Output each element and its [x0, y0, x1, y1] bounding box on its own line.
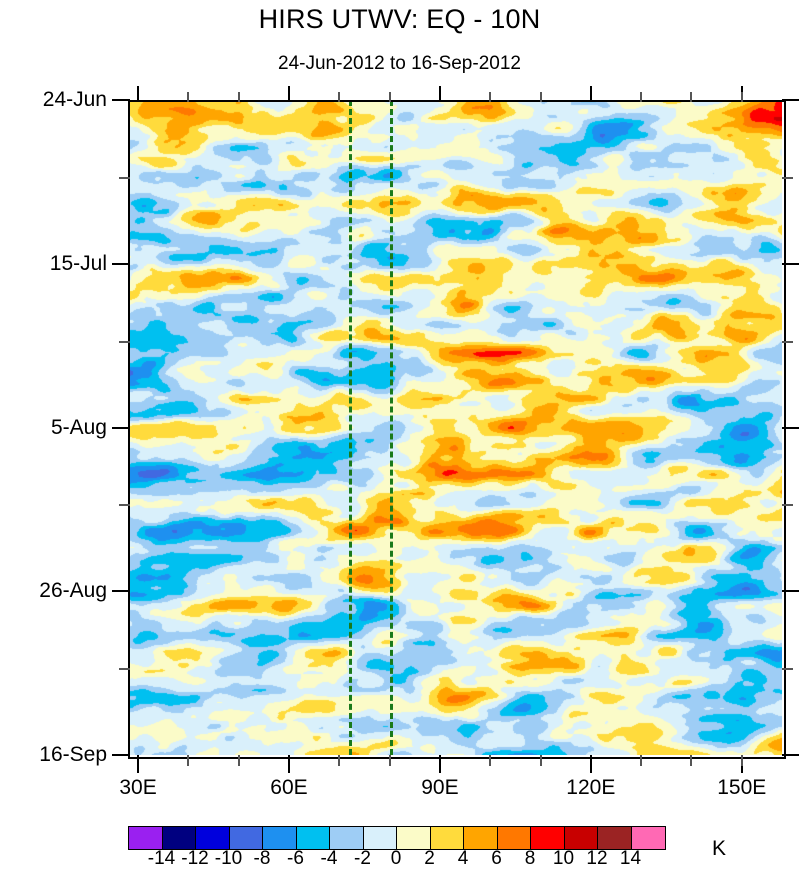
axis-tick — [782, 341, 793, 343]
axis-tick — [540, 755, 542, 766]
axis-tick — [439, 755, 441, 773]
hovmoller-plot-area — [128, 100, 782, 755]
page-title: HIRS UTWV: EQ - 10N — [0, 4, 799, 35]
axis-tick — [489, 755, 491, 766]
colorbar-swatch[interactable] — [431, 827, 465, 849]
axis-tick — [690, 755, 692, 766]
axis-tick — [782, 590, 799, 592]
colorbar[interactable] — [128, 826, 666, 850]
x-axis-tick-label: 150E — [692, 777, 792, 798]
axis-tick — [782, 177, 793, 179]
axis-tick — [640, 755, 642, 766]
figure-subtitle: 24-Jun-2012 to 16-Sep-2012 — [0, 53, 799, 75]
colorbar-swatch[interactable] — [129, 827, 163, 849]
axis-tick — [119, 504, 130, 506]
x-axis-tick-label: 60E — [239, 777, 339, 798]
colorbar-swatch[interactable] — [297, 827, 331, 849]
axis-tick — [119, 668, 130, 670]
axis-tick — [338, 92, 340, 102]
axis-tick — [137, 755, 139, 773]
axis-tick — [338, 755, 340, 766]
x-axis-tick-label: 120E — [541, 777, 641, 798]
axis-tick — [389, 755, 391, 766]
colorbar-swatch[interactable] — [464, 827, 498, 849]
axis-tick — [741, 755, 743, 766]
axis-tick — [690, 92, 692, 102]
axis-tick — [119, 341, 130, 343]
y-axis-tick-label: 5-Aug — [51, 417, 107, 438]
figure-root: HIRS UTWV: EQ - 10N 24-Jun-2012 to 16-Se… — [0, 0, 799, 869]
axis-tick — [590, 86, 592, 102]
colorbar-unit-label: K — [712, 838, 726, 859]
axis-tick — [288, 755, 290, 773]
axis-tick — [782, 427, 799, 429]
axis-tick — [288, 86, 290, 102]
colorbar-swatch[interactable] — [330, 827, 364, 849]
axis-tick — [640, 92, 642, 102]
y-axis-tick-label: 24-Jun — [43, 89, 107, 110]
axis-tick — [741, 92, 743, 102]
y-axis-tick-label: 16-Sep — [39, 744, 107, 765]
axis-tick — [112, 263, 130, 265]
x-axis-tick-label: 30E — [88, 777, 188, 798]
axis-tick — [112, 99, 130, 101]
axis-tick — [782, 263, 799, 265]
axis-tick — [782, 504, 793, 506]
axis-tick — [782, 99, 799, 101]
colorbar-swatch[interactable] — [397, 827, 431, 849]
colorbar-swatch[interactable] — [263, 827, 297, 849]
colorbar-swatch[interactable] — [163, 827, 197, 849]
colorbar-tick-label: 14 — [607, 849, 655, 868]
y-axis-tick-label: 15-Jul — [50, 253, 107, 274]
axis-tick — [389, 92, 391, 102]
axis-tick — [112, 427, 130, 429]
colorbar-swatch[interactable] — [565, 827, 599, 849]
axis-tick — [439, 86, 441, 102]
colorbar-swatch[interactable] — [531, 827, 565, 849]
colorbar-swatch[interactable] — [230, 827, 264, 849]
annotation-vline-72e — [349, 100, 352, 755]
y-axis-tick-label: 26-Aug — [39, 580, 107, 601]
colorbar-swatch[interactable] — [598, 827, 632, 849]
contour-field-canvas — [128, 100, 782, 755]
axis-tick — [137, 86, 139, 102]
axis-tick — [112, 590, 130, 592]
annotation-vline-80e — [390, 100, 393, 755]
axis-tick — [590, 755, 592, 773]
axis-tick — [238, 92, 240, 102]
axis-tick — [187, 755, 189, 766]
axis-tick — [782, 754, 799, 756]
axis-tick — [782, 668, 793, 670]
colorbar-swatch[interactable] — [196, 827, 230, 849]
colorbar-swatch[interactable] — [632, 827, 666, 849]
axis-tick — [238, 755, 240, 766]
colorbar-swatch[interactable] — [498, 827, 532, 849]
axis-tick — [540, 92, 542, 102]
colorbar-swatch[interactable] — [364, 827, 398, 849]
axis-tick — [489, 92, 491, 102]
axis-tick — [112, 754, 130, 756]
axis-tick — [187, 92, 189, 102]
axis-tick — [119, 177, 130, 179]
x-axis-tick-label: 90E — [390, 777, 490, 798]
